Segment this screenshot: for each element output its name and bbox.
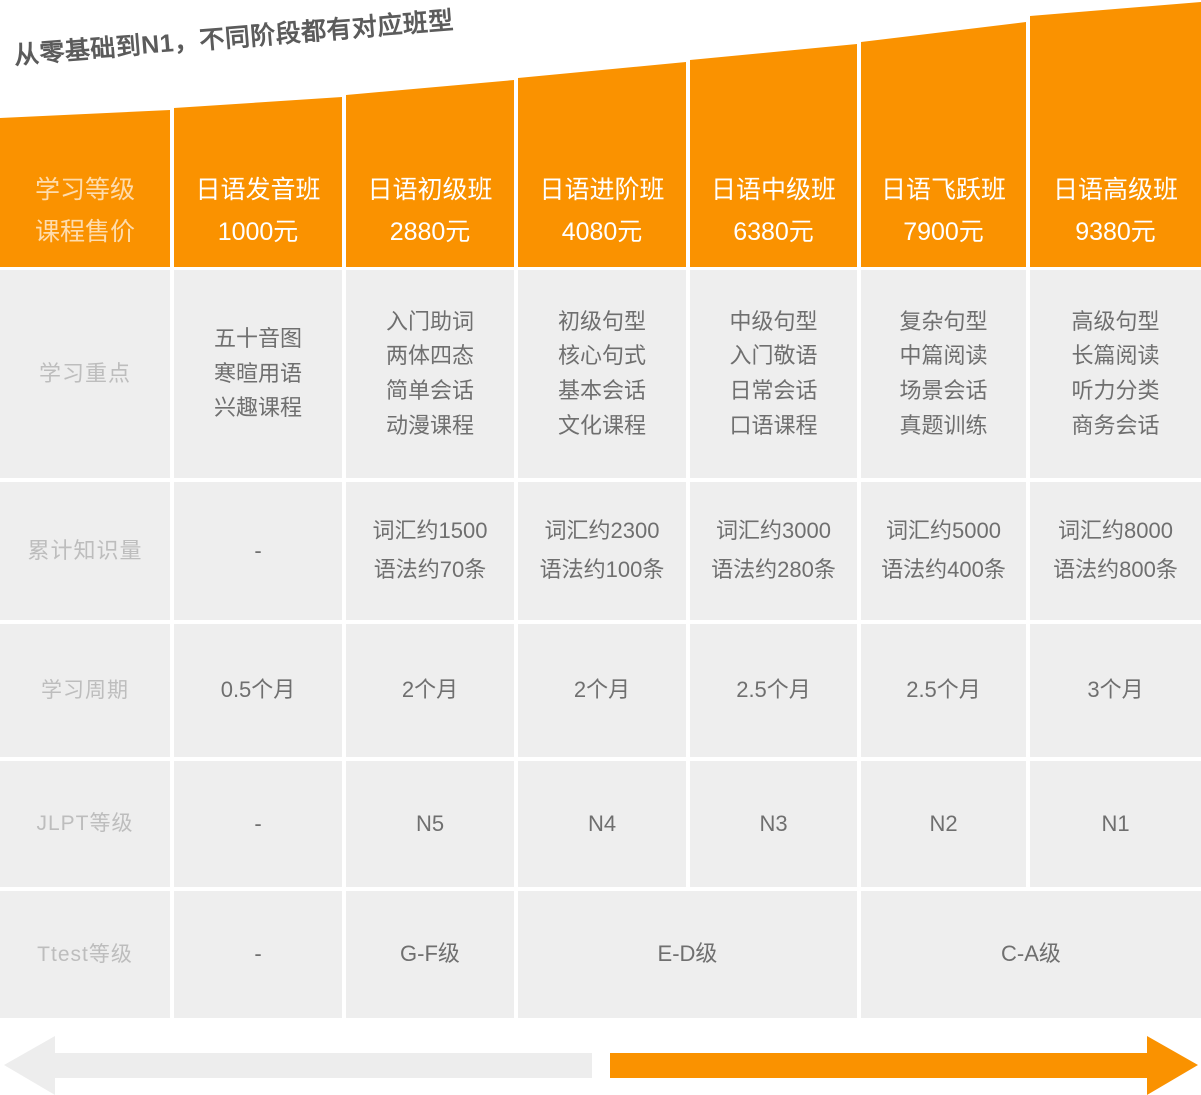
table-cell: 词汇约5000语法约400条	[861, 482, 1026, 620]
cell-line: G-F级	[400, 938, 460, 971]
cell-line: N3	[759, 808, 787, 841]
table-cell: 中级句型入门敬语日常会话口语课程	[690, 270, 857, 478]
header-column-6[interactable]: 日语高级班 9380元	[1030, 173, 1201, 250]
cell-line: 真题训练	[899, 410, 987, 443]
cell-line: 简单会话	[386, 375, 474, 408]
table-cell: 词汇约1500语法约70条	[346, 482, 514, 620]
table-cell: N5	[346, 761, 514, 887]
cell-lines: G-F级	[400, 938, 460, 971]
cell-line: N5	[416, 808, 444, 841]
cell-line: 口语课程	[729, 410, 817, 443]
header-corner-line1: 学习等级	[0, 173, 170, 209]
cell-lines: 五十音图寒暄用语兴趣课程	[214, 323, 302, 425]
header-corner-line2: 课程售价	[0, 215, 170, 251]
table-row: 学习周期0.5个月2个月2个月2.5个月2.5个月3个月	[0, 624, 1201, 757]
cell-line: C-A级	[1001, 938, 1061, 971]
header-column-1[interactable]: 日语发音班 1000元	[174, 173, 342, 250]
cell-line: 2个月	[402, 674, 458, 707]
cell-line: 寒暄用语	[214, 358, 302, 391]
table-cell: -	[174, 761, 342, 887]
cell-lines: 初级句型核心句式基本会话文化课程	[558, 306, 646, 442]
row-label: JLPT等级	[0, 761, 170, 887]
cell-lines: 高级句型长篇阅读听力分类商务会话	[1071, 306, 1159, 442]
comparison-table: 学习重点五十音图寒暄用语兴趣课程入门助词两体四态简单会话动漫课程初级句型核心句式…	[0, 270, 1201, 1022]
table-cell: 高级句型长篇阅读听力分类商务会话	[1030, 270, 1201, 478]
cell-lines: N3	[759, 808, 787, 841]
cell-lines: 入门助词两体四态简单会话动漫课程	[386, 306, 474, 442]
cell-lines: 词汇约2300语法约100条	[540, 515, 665, 586]
header-column-3-price: 4080元	[518, 215, 686, 251]
cell-line: 语法约800条	[1053, 554, 1178, 587]
cell-line: 入门助词	[386, 306, 474, 339]
table-cell: 词汇约2300语法约100条	[518, 482, 686, 620]
table-cell: 2.5个月	[690, 624, 857, 757]
table-cell: -	[174, 482, 342, 620]
table-row: JLPT等级-N5N4N3N2N1	[0, 761, 1201, 887]
table-cell: 2个月	[346, 624, 514, 757]
table-cell: 复杂句型中篇阅读场景会话真题训练	[861, 270, 1026, 478]
table-cell: 3个月	[1030, 624, 1201, 757]
cell-line: 中篇阅读	[899, 340, 987, 373]
cell-line: 商务会话	[1071, 410, 1159, 443]
cell-line: 语法约100条	[540, 554, 665, 587]
course-comparison-infographic: 从零基础到N1，不同阶段都有对应班型 学习等级 课程售价 日语发音班 1000元…	[0, 0, 1201, 1095]
table-cell: G-F级	[346, 891, 514, 1018]
table-cell: 2个月	[518, 624, 686, 757]
table-cell: E-D级	[518, 891, 857, 1018]
cell-lines: 词汇约3000语法约280条	[711, 515, 836, 586]
cell-line: 文化课程	[558, 410, 646, 443]
header-column-5-name: 日语飞跃班	[861, 173, 1026, 209]
orange-right-arrow	[610, 1036, 1198, 1095]
cell-lines: 复杂句型中篇阅读场景会话真题训练	[899, 306, 987, 442]
gray-left-arrow	[4, 1036, 592, 1095]
table-cell: 初级句型核心句式基本会话文化课程	[518, 270, 686, 478]
cell-line: 日常会话	[729, 375, 817, 408]
table-cell: N4	[518, 761, 686, 887]
cell-line: 核心句式	[558, 340, 646, 373]
header-column-1-price: 1000元	[174, 215, 342, 251]
cell-lines: 词汇约5000语法约400条	[881, 515, 1006, 586]
cell-line: 基本会话	[558, 375, 646, 408]
cell-lines: N1	[1101, 808, 1129, 841]
cell-lines: 中级句型入门敬语日常会话口语课程	[729, 306, 817, 442]
cell-line: 语法约400条	[881, 554, 1006, 587]
cell-line: 词汇约1500	[373, 515, 488, 548]
table-cell: 词汇约8000语法约800条	[1030, 482, 1201, 620]
cell-line: 词汇约2300	[540, 515, 665, 548]
cell-line: 3个月	[1087, 674, 1143, 707]
header-column-6-price: 9380元	[1030, 215, 1201, 251]
cell-line: 场景会话	[899, 375, 987, 408]
table-cell: N1	[1030, 761, 1201, 887]
header-column-3-name: 日语进阶班	[518, 173, 686, 209]
cell-lines: 2个月	[574, 674, 630, 707]
cell-lines: -	[254, 535, 261, 568]
row-label: 学习重点	[0, 270, 170, 478]
cell-lines: N5	[416, 808, 444, 841]
cell-lines: E-D级	[658, 938, 718, 971]
cell-line: 初级句型	[558, 306, 646, 339]
table-cell: 2.5个月	[861, 624, 1026, 757]
cell-lines: 0.5个月	[221, 674, 296, 707]
progression-arrows	[0, 1025, 1201, 1095]
header-column-4-price: 6380元	[690, 215, 857, 251]
cell-lines: -	[254, 938, 261, 971]
header-column-4[interactable]: 日语中级班 6380元	[690, 173, 857, 250]
header-column-2-price: 2880元	[346, 215, 514, 251]
table-row: 累计知识量-词汇约1500语法约70条词汇约2300语法约100条词汇约3000…	[0, 482, 1201, 620]
cell-line: -	[254, 535, 261, 568]
header-column-6-name: 日语高级班	[1030, 173, 1201, 209]
cell-line: 2.5个月	[906, 674, 981, 707]
cell-line: N1	[1101, 808, 1129, 841]
header-column-5[interactable]: 日语飞跃班 7900元	[861, 173, 1026, 250]
table-cell: -	[174, 891, 342, 1018]
cell-line: 长篇阅读	[1071, 340, 1159, 373]
table-cell: C-A级	[861, 891, 1201, 1018]
cell-line: 两体四态	[386, 340, 474, 373]
cell-line: N4	[588, 808, 616, 841]
table-cell: 词汇约3000语法约280条	[690, 482, 857, 620]
header-column-2-name: 日语初级班	[346, 173, 514, 209]
cell-lines: 3个月	[1087, 674, 1143, 707]
cell-lines: 2.5个月	[906, 674, 981, 707]
cell-lines: 词汇约1500语法约70条	[373, 515, 488, 586]
table-cell: N3	[690, 761, 857, 887]
cell-lines: N2	[929, 808, 957, 841]
cell-line: 词汇约8000	[1053, 515, 1178, 548]
header-column-4-name: 日语中级班	[690, 173, 857, 209]
row-label: Ttest等级	[0, 891, 170, 1018]
table-cell: 入门助词两体四态简单会话动漫课程	[346, 270, 514, 478]
cell-line: 词汇约5000	[881, 515, 1006, 548]
cell-line: 高级句型	[1071, 306, 1159, 339]
row-label: 累计知识量	[0, 482, 170, 620]
cell-lines: 2个月	[402, 674, 458, 707]
table-row: 学习重点五十音图寒暄用语兴趣课程入门助词两体四态简单会话动漫课程初级句型核心句式…	[0, 270, 1201, 478]
header-corner-cell: 学习等级 课程售价	[0, 173, 170, 250]
cell-lines: C-A级	[1001, 938, 1061, 971]
cell-line: 语法约70条	[373, 554, 488, 587]
cell-line: 五十音图	[214, 323, 302, 356]
cell-lines: -	[254, 808, 261, 841]
cell-line: 入门敬语	[729, 340, 817, 373]
header-column-5-price: 7900元	[861, 215, 1026, 251]
table-cell: N2	[861, 761, 1026, 887]
table-cell: 0.5个月	[174, 624, 342, 757]
table-row: Ttest等级-G-F级E-D级C-A级	[0, 891, 1201, 1018]
cell-lines: 2.5个月	[736, 674, 811, 707]
cell-line: 2.5个月	[736, 674, 811, 707]
cell-line: 语法约280条	[711, 554, 836, 587]
cell-line: 词汇约3000	[711, 515, 836, 548]
cell-line: 兴趣课程	[214, 392, 302, 425]
header-column-3[interactable]: 日语进阶班 4080元	[518, 173, 686, 250]
cell-line: E-D级	[658, 938, 718, 971]
cell-line: -	[254, 938, 261, 971]
cell-line: N2	[929, 808, 957, 841]
cell-line: -	[254, 808, 261, 841]
cell-line: 听力分类	[1071, 375, 1159, 408]
header-column-2[interactable]: 日语初级班 2880元	[346, 173, 514, 250]
cell-line: 0.5个月	[221, 674, 296, 707]
cell-line: 复杂句型	[899, 306, 987, 339]
table-cell: 五十音图寒暄用语兴趣课程	[174, 270, 342, 478]
cell-line: 2个月	[574, 674, 630, 707]
cell-line: 中级句型	[729, 306, 817, 339]
cell-lines: 词汇约8000语法约800条	[1053, 515, 1178, 586]
cell-line: 动漫课程	[386, 410, 474, 443]
cell-lines: N4	[588, 808, 616, 841]
header-column-1-name: 日语发音班	[174, 173, 342, 209]
row-label: 学习周期	[0, 624, 170, 757]
